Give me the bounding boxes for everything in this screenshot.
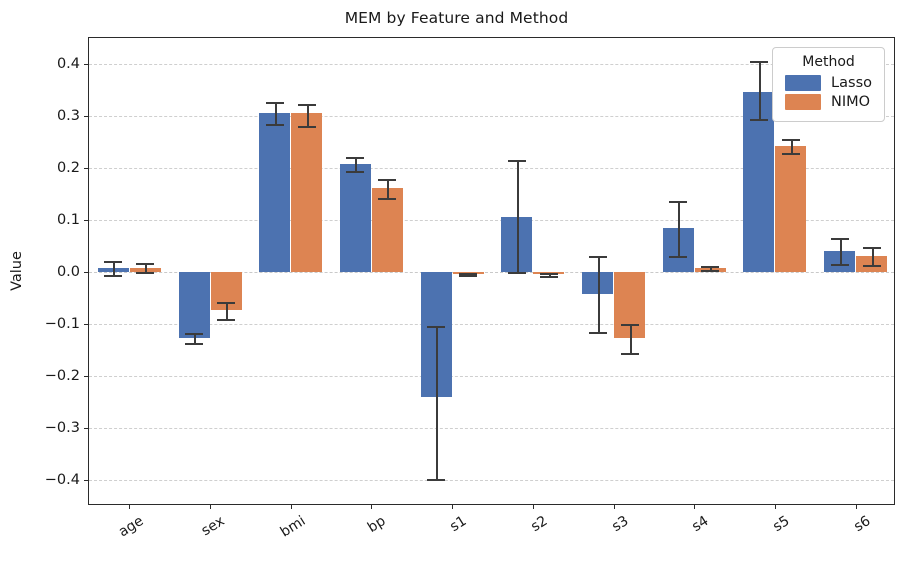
gridline-y <box>89 376 894 377</box>
x-tick-label-age: age <box>116 513 147 540</box>
error-bar-cap-upper-lasso-s6 <box>831 238 849 240</box>
error-bar-cap-lower-lasso-sex <box>185 343 203 345</box>
error-bar-cap-upper-nimo-age <box>136 263 154 265</box>
chart-title: MEM by Feature and Method <box>0 9 913 27</box>
x-tick-mark <box>533 504 534 509</box>
error-bar-line-nimo-sex <box>226 302 228 320</box>
error-bar-cap-upper-lasso-bmi <box>266 102 284 104</box>
x-tick-mark <box>291 504 292 509</box>
error-bar-line-lasso-s4 <box>678 201 680 257</box>
y-tick-label: 0.2 <box>57 160 89 176</box>
error-bar-cap-lower-nimo-s6 <box>863 265 881 267</box>
y-tick-label: 0.4 <box>57 56 89 72</box>
error-bar-cap-upper-nimo-s4 <box>701 266 719 268</box>
error-bar-cap-upper-nimo-s3 <box>621 324 639 326</box>
error-bar-cap-upper-nimo-bp <box>378 179 396 181</box>
y-tick-label: 0.1 <box>57 212 89 228</box>
y-tick-label: 0.3 <box>57 108 89 124</box>
bar-lasso-bp[interactable] <box>340 164 371 272</box>
error-bar-cap-lower-lasso-bp <box>346 171 364 173</box>
x-tick-label-s4: s4 <box>690 513 712 535</box>
x-tick-mark <box>129 504 130 509</box>
x-tick-mark <box>694 504 695 509</box>
y-tick-label: −0.1 <box>45 316 89 332</box>
error-bar-line-nimo-s6 <box>872 247 874 266</box>
error-bar-line-nimo-bp <box>387 179 389 197</box>
error-bar-cap-upper-nimo-s6 <box>863 247 881 249</box>
legend[interactable]: Method LassoNIMO <box>772 47 885 122</box>
legend-swatch-nimo <box>785 94 821 110</box>
error-bar-cap-lower-nimo-age <box>136 272 154 274</box>
legend-label-lasso: Lasso <box>831 75 872 91</box>
x-tick-label-s2: s2 <box>528 513 550 535</box>
error-bar-cap-upper-lasso-s3 <box>589 256 607 258</box>
y-axis-label-text: Value <box>9 251 25 291</box>
y-axis-label: Value <box>7 37 27 505</box>
error-bar-cap-lower-lasso-s6 <box>831 264 849 266</box>
error-bar-cap-lower-lasso-s3 <box>589 332 607 334</box>
error-bar-cap-lower-lasso-age <box>104 275 122 277</box>
error-bar-line-lasso-age <box>113 261 115 275</box>
error-bar-line-nimo-s3 <box>630 324 632 353</box>
error-bar-line-lasso-s5 <box>759 61 761 118</box>
x-tick-label-sex: sex <box>199 513 228 539</box>
legend-title: Method <box>785 54 872 70</box>
error-bar-line-lasso-s2 <box>517 160 519 272</box>
y-tick-label: −0.4 <box>45 472 89 488</box>
bar-lasso-bmi[interactable] <box>259 113 290 272</box>
x-tick-label-bmi: bmi <box>277 513 308 541</box>
error-bar-cap-lower-lasso-s4 <box>669 256 687 258</box>
error-bar-line-lasso-s6 <box>840 238 842 265</box>
error-bar-cap-upper-nimo-s5 <box>782 139 800 141</box>
y-tick-label: −0.3 <box>45 420 89 436</box>
error-bar-line-lasso-s3 <box>598 256 600 331</box>
error-bar-cap-lower-lasso-s5 <box>750 119 768 121</box>
error-bar-cap-upper-lasso-s2 <box>508 160 526 162</box>
error-bar-line-lasso-s1 <box>436 326 438 480</box>
error-bar-cap-upper-lasso-s5 <box>750 61 768 63</box>
x-tick-label-bp: bp <box>365 513 389 536</box>
bar-lasso-sex[interactable] <box>179 272 210 338</box>
x-tick-label-s3: s3 <box>609 513 631 535</box>
error-bar-cap-lower-lasso-s2 <box>508 272 526 274</box>
legend-entry-nimo[interactable]: NIMO <box>785 94 872 110</box>
error-bar-cap-upper-lasso-s4 <box>669 201 687 203</box>
x-tick-mark <box>775 504 776 509</box>
error-bar-cap-upper-lasso-sex <box>185 333 203 335</box>
gridline-y <box>89 480 894 481</box>
error-bar-cap-lower-nimo-s5 <box>782 153 800 155</box>
x-tick-mark <box>452 504 453 509</box>
x-tick-mark <box>856 504 857 509</box>
x-tick-label-s6: s6 <box>851 513 873 535</box>
legend-label-nimo: NIMO <box>831 94 870 110</box>
error-bar-cap-upper-nimo-sex <box>217 302 235 304</box>
error-bar-line-nimo-bmi <box>307 104 309 126</box>
error-bar-cap-lower-lasso-bmi <box>266 124 284 126</box>
legend-entries: LassoNIMO <box>785 75 872 110</box>
x-tick-label-s5: s5 <box>770 513 792 535</box>
legend-swatch-lasso <box>785 75 821 91</box>
error-bar-cap-upper-lasso-s1 <box>427 326 445 328</box>
error-bar-cap-lower-nimo-s3 <box>621 353 639 355</box>
error-bar-cap-lower-nimo-bp <box>378 198 396 200</box>
error-bar-cap-lower-nimo-s1 <box>459 275 477 277</box>
error-bar-cap-lower-lasso-s1 <box>427 479 445 481</box>
gridline-y <box>89 428 894 429</box>
error-bar-cap-upper-lasso-age <box>104 261 122 263</box>
legend-entry-lasso[interactable]: Lasso <box>785 75 872 91</box>
y-tick-label: 0.0 <box>57 264 89 280</box>
bar-nimo-s5[interactable] <box>775 146 806 272</box>
error-bar-cap-lower-nimo-bmi <box>298 126 316 128</box>
figure: MEM by Feature and Method Value 0.40.30.… <box>0 0 913 571</box>
error-bar-cap-upper-lasso-bp <box>346 157 364 159</box>
error-bar-line-nimo-s5 <box>791 139 793 154</box>
error-bar-line-lasso-bp <box>355 157 357 171</box>
error-bar-cap-lower-nimo-sex <box>217 319 235 321</box>
bar-nimo-bmi[interactable] <box>291 113 322 272</box>
x-tick-mark <box>614 504 615 509</box>
x-tick-mark <box>210 504 211 509</box>
x-tick-label-s1: s1 <box>447 513 469 535</box>
error-bar-cap-upper-nimo-bmi <box>298 104 316 106</box>
bar-nimo-bp[interactable] <box>372 188 403 272</box>
error-bar-cap-upper-nimo-s2 <box>540 273 558 275</box>
y-tick-label: −0.2 <box>45 368 89 384</box>
error-bar-cap-lower-nimo-s2 <box>540 276 558 278</box>
error-bar-line-lasso-bmi <box>275 102 277 124</box>
error-bar-cap-lower-nimo-s4 <box>701 270 719 272</box>
x-tick-mark <box>371 504 372 509</box>
gridline-y <box>89 324 894 325</box>
plot-axes: 0.40.30.20.10.0−0.1−0.2−0.3−0.4agesexbmi… <box>88 37 895 505</box>
